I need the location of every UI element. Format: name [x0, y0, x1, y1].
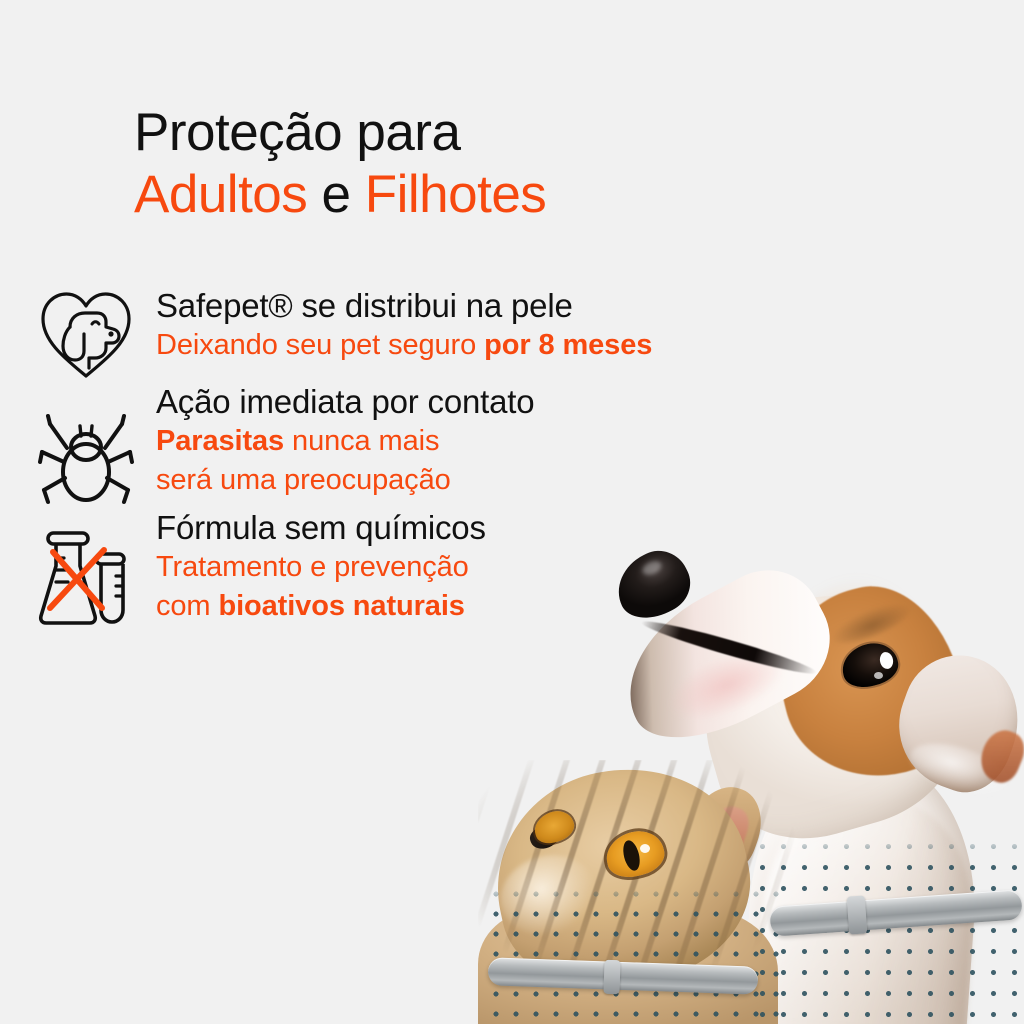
- feature-title: Ação imediata por contato: [156, 382, 534, 422]
- feature-item-no-chemicals: Fórmula sem químicos Tratamento e preven…: [34, 508, 864, 626]
- feature-subtitle-bold: por 8 meses: [484, 329, 652, 361]
- cat-photo: Gato tigrado olhando para cima com colei…: [478, 760, 818, 1024]
- dog-eye: [838, 639, 902, 692]
- distribution-dots-dog: [752, 836, 1024, 1024]
- dog-muzzle-pink: [658, 635, 796, 736]
- feature-title: Safepet® se distribui na pele: [156, 286, 652, 326]
- dog-eye-highlight: [878, 651, 894, 670]
- cat-eye-highlight: [640, 844, 650, 853]
- feature-item-skin-distribution: Safepet® se distribui na pele Deixando s…: [34, 286, 864, 382]
- tick-bug-icon: [34, 382, 138, 508]
- feature-subtitle: Deixando seu pet seguro por 8 meses: [156, 326, 652, 364]
- no-chemicals-flask-icon: [34, 508, 138, 626]
- distribution-dots-cat: [486, 884, 786, 1024]
- feature-subtitle-line-2-plain: com: [156, 590, 218, 622]
- dog-ear-inner: [974, 724, 1024, 787]
- headline-line-2: Adultos e Filhotes: [134, 164, 834, 226]
- feature-title: Fórmula sem químicos: [156, 508, 486, 548]
- cat-collar-buckle: [603, 960, 620, 995]
- feature-text-immediate-action: Ação imediata por contato Parasitas nunc…: [156, 382, 534, 499]
- feature-subtitle: Parasitas nunca mais: [156, 422, 534, 460]
- feature-text-no-chemicals: Fórmula sem químicos Tratamento e preven…: [156, 508, 486, 625]
- dog-collar-buckle: [847, 895, 868, 934]
- dog-ear-fold: [904, 733, 1017, 807]
- headline-line-1: Proteção para: [134, 102, 834, 164]
- feature-subtitle: Tratamento e prevenção: [156, 548, 486, 586]
- feature-subtitle-plain: Deixando seu pet seguro: [156, 329, 484, 361]
- feature-item-immediate-action: Ação imediata por contato Parasitas nunc…: [34, 382, 864, 508]
- cat-ear: [678, 777, 773, 880]
- cat-body: [478, 910, 778, 1024]
- cat-tabby-stripes: [478, 760, 818, 1024]
- cat-pupil: [620, 839, 642, 873]
- headline-accent-filhotes: Filhotes: [365, 165, 547, 224]
- distribution-dots-alt: Pontos indicando distribuicao do produto…: [0, 0, 1, 1]
- feature-subtitle-line-2: com bioativos naturais: [156, 587, 486, 625]
- dog-collar: [769, 889, 1022, 937]
- promo-poster: Cachorro Jack Russell olhando para cima …: [0, 0, 1024, 1024]
- cat-collar: [488, 957, 759, 994]
- cat-ear-inner: [702, 801, 754, 862]
- cat-head: [477, 746, 768, 1008]
- feature-subtitle-bold: Parasitas: [156, 425, 284, 457]
- feature-subtitle-plain: nunca mais: [284, 425, 439, 457]
- headline-conjunction: e: [307, 165, 364, 224]
- dog-chest-shading: [754, 791, 981, 1024]
- feature-subtitle-line-2: será uma preocupação: [156, 461, 534, 499]
- cat-far-eye: [530, 806, 578, 848]
- cat-eye: [602, 826, 669, 883]
- page-title: Proteção para Adultos e Filhotes: [134, 102, 834, 226]
- dog-neck: [740, 751, 985, 1024]
- dog-ear: [881, 640, 1024, 804]
- cat-photo-alt: Gato tigrado olhando para cima com colei…: [478, 760, 479, 761]
- cat-chin: [491, 844, 605, 945]
- feature-subtitle-line-2-bold: bioativos naturais: [218, 590, 464, 622]
- dog-eye-highlight-secondary: [874, 672, 883, 679]
- heart-dog-icon: [34, 286, 138, 382]
- feature-list: Safepet® se distribui na pele Deixando s…: [34, 286, 864, 626]
- headline-accent-adultos: Adultos: [134, 165, 307, 224]
- feature-text-skin-distribution: Safepet® se distribui na pele Deixando s…: [156, 286, 652, 365]
- cat-nose: [527, 821, 563, 853]
